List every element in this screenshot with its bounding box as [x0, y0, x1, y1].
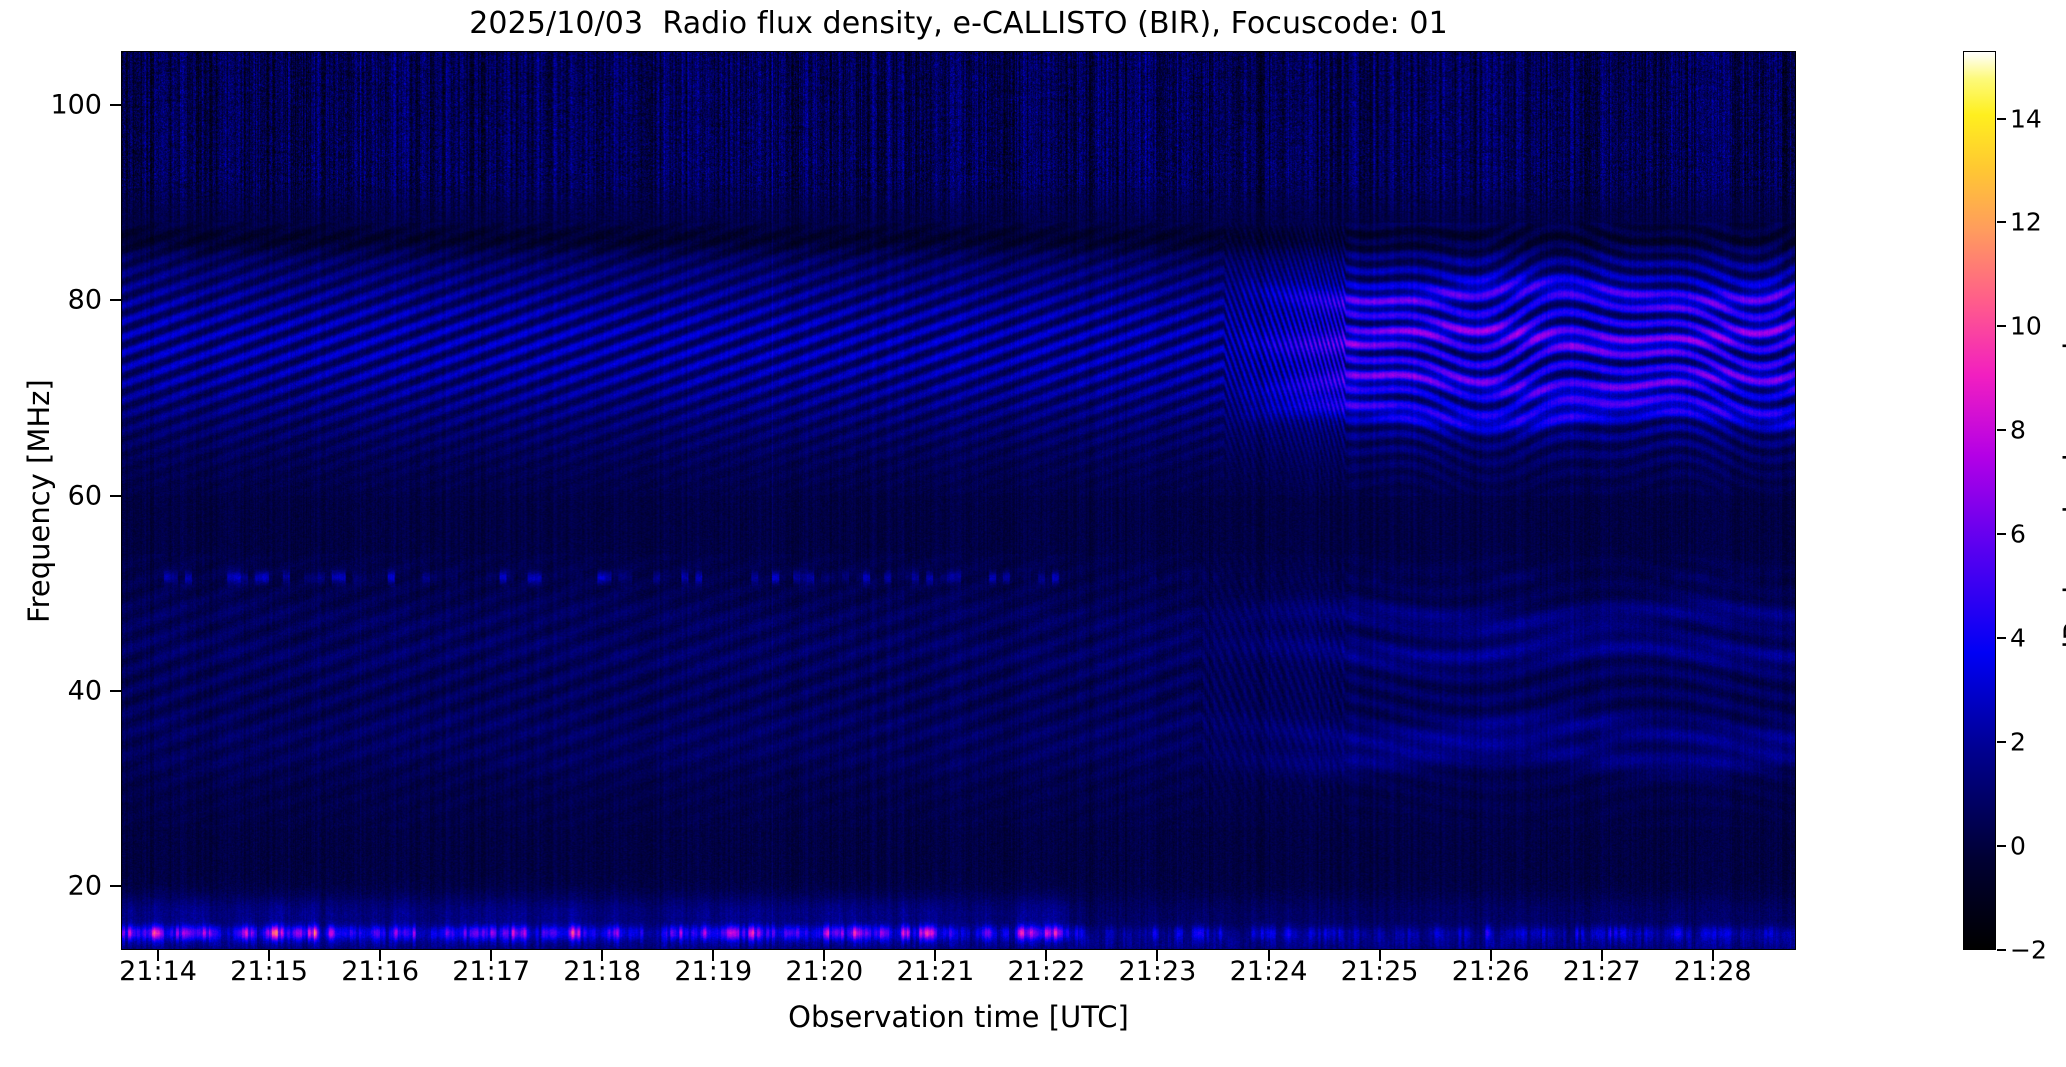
colorbar-tick-label--2: −2	[2010, 938, 2047, 963]
colorbar-tick-mark--2	[1997, 949, 2006, 951]
x-tick-mark-21-17	[490, 950, 492, 961]
colorbar-tick-label-6: 6	[2010, 522, 2026, 547]
colorbar-tick-label-12: 12	[2010, 210, 2042, 235]
x-tick-mark-21-14	[157, 950, 159, 961]
y-axis-label: Frequency [MHz]	[22, 379, 56, 623]
x-tick-mark-21-27	[1601, 950, 1603, 961]
y-tick-mark-100	[110, 104, 121, 106]
colorbar-tick-label-8: 8	[2010, 418, 2026, 443]
spectrogram-figure: 2025/10/03 Radio flux density, e-CALLIST…	[0, 0, 2066, 1067]
x-tick-mark-21-23	[1156, 950, 1158, 961]
x-axis-label: Observation time [UTC]	[121, 1000, 1796, 1034]
spectrogram-image	[122, 52, 1795, 949]
y-tick-mark-60	[110, 495, 121, 497]
colorbar-tick-label-14: 14	[2010, 106, 2042, 131]
x-tick-label-21-15: 21:15	[230, 958, 308, 985]
colorbar-tick-label-4: 4	[2010, 626, 2026, 651]
x-tick-mark-21-18	[601, 950, 603, 961]
y-tick-label-80: 80	[22, 287, 102, 314]
colorbar	[1963, 51, 1996, 950]
y-tick-mark-80	[110, 299, 121, 301]
x-tick-label-21-19: 21:19	[674, 958, 752, 985]
x-tick-label-21-24: 21:24	[1230, 958, 1308, 985]
x-tick-mark-21-19	[712, 950, 714, 961]
colorbar-gradient	[1964, 52, 1995, 949]
x-tick-mark-21-25	[1379, 950, 1381, 961]
x-tick-mark-21-28	[1712, 950, 1714, 961]
x-tick-mark-21-24	[1268, 950, 1270, 961]
x-tick-label-21-25: 21:25	[1341, 958, 1419, 985]
x-tick-mark-21-15	[268, 950, 270, 961]
y-tick-label-40: 40	[22, 678, 102, 705]
x-tick-label-21-20: 21:20	[785, 958, 863, 985]
x-tick-label-21-28: 21:28	[1674, 958, 1752, 985]
x-tick-label-21-17: 21:17	[452, 958, 530, 985]
x-tick-mark-21-22	[1045, 950, 1047, 961]
x-tick-label-21-16: 21:16	[341, 958, 419, 985]
x-tick-label-21-21: 21:21	[896, 958, 974, 985]
colorbar-tick-label-10: 10	[2010, 314, 2042, 339]
figure-title: 2025/10/03 Radio flux density, e-CALLIST…	[0, 4, 1917, 44]
colorbar-tick-mark-6	[1997, 533, 2006, 535]
colorbar-tick-mark-14	[1997, 118, 2006, 120]
colorbar-tick-mark-2	[1997, 741, 2006, 743]
colorbar-tick-mark-8	[1997, 429, 2006, 431]
colorbar-tick-mark-0	[1997, 845, 2006, 847]
x-tick-label-21-26: 21:26	[1452, 958, 1530, 985]
x-tick-label-21-18: 21:18	[563, 958, 641, 985]
x-tick-label-21-22: 21:22	[1008, 958, 1086, 985]
y-tick-label-100: 100	[22, 91, 102, 118]
spectrogram-plot-area	[121, 51, 1796, 950]
x-tick-label-21-14: 21:14	[119, 958, 197, 985]
y-tick-mark-40	[110, 690, 121, 692]
x-tick-mark-21-21	[934, 950, 936, 961]
x-tick-mark-21-20	[823, 950, 825, 961]
colorbar-tick-mark-4	[1997, 637, 2006, 639]
x-tick-label-21-27: 21:27	[1563, 958, 1641, 985]
colorbar-tick-mark-10	[1997, 325, 2006, 327]
colorbar-label: dB above background	[2058, 342, 2066, 659]
x-tick-mark-21-26	[1490, 950, 1492, 961]
colorbar-tick-label-0: 0	[2010, 834, 2026, 859]
x-tick-mark-21-16	[379, 950, 381, 961]
colorbar-tick-mark-12	[1997, 221, 2006, 223]
colorbar-tick-label-2: 2	[2010, 730, 2026, 755]
y-tick-label-20: 20	[22, 873, 102, 900]
y-tick-mark-20	[110, 885, 121, 887]
x-tick-label-21-23: 21:23	[1119, 958, 1197, 985]
